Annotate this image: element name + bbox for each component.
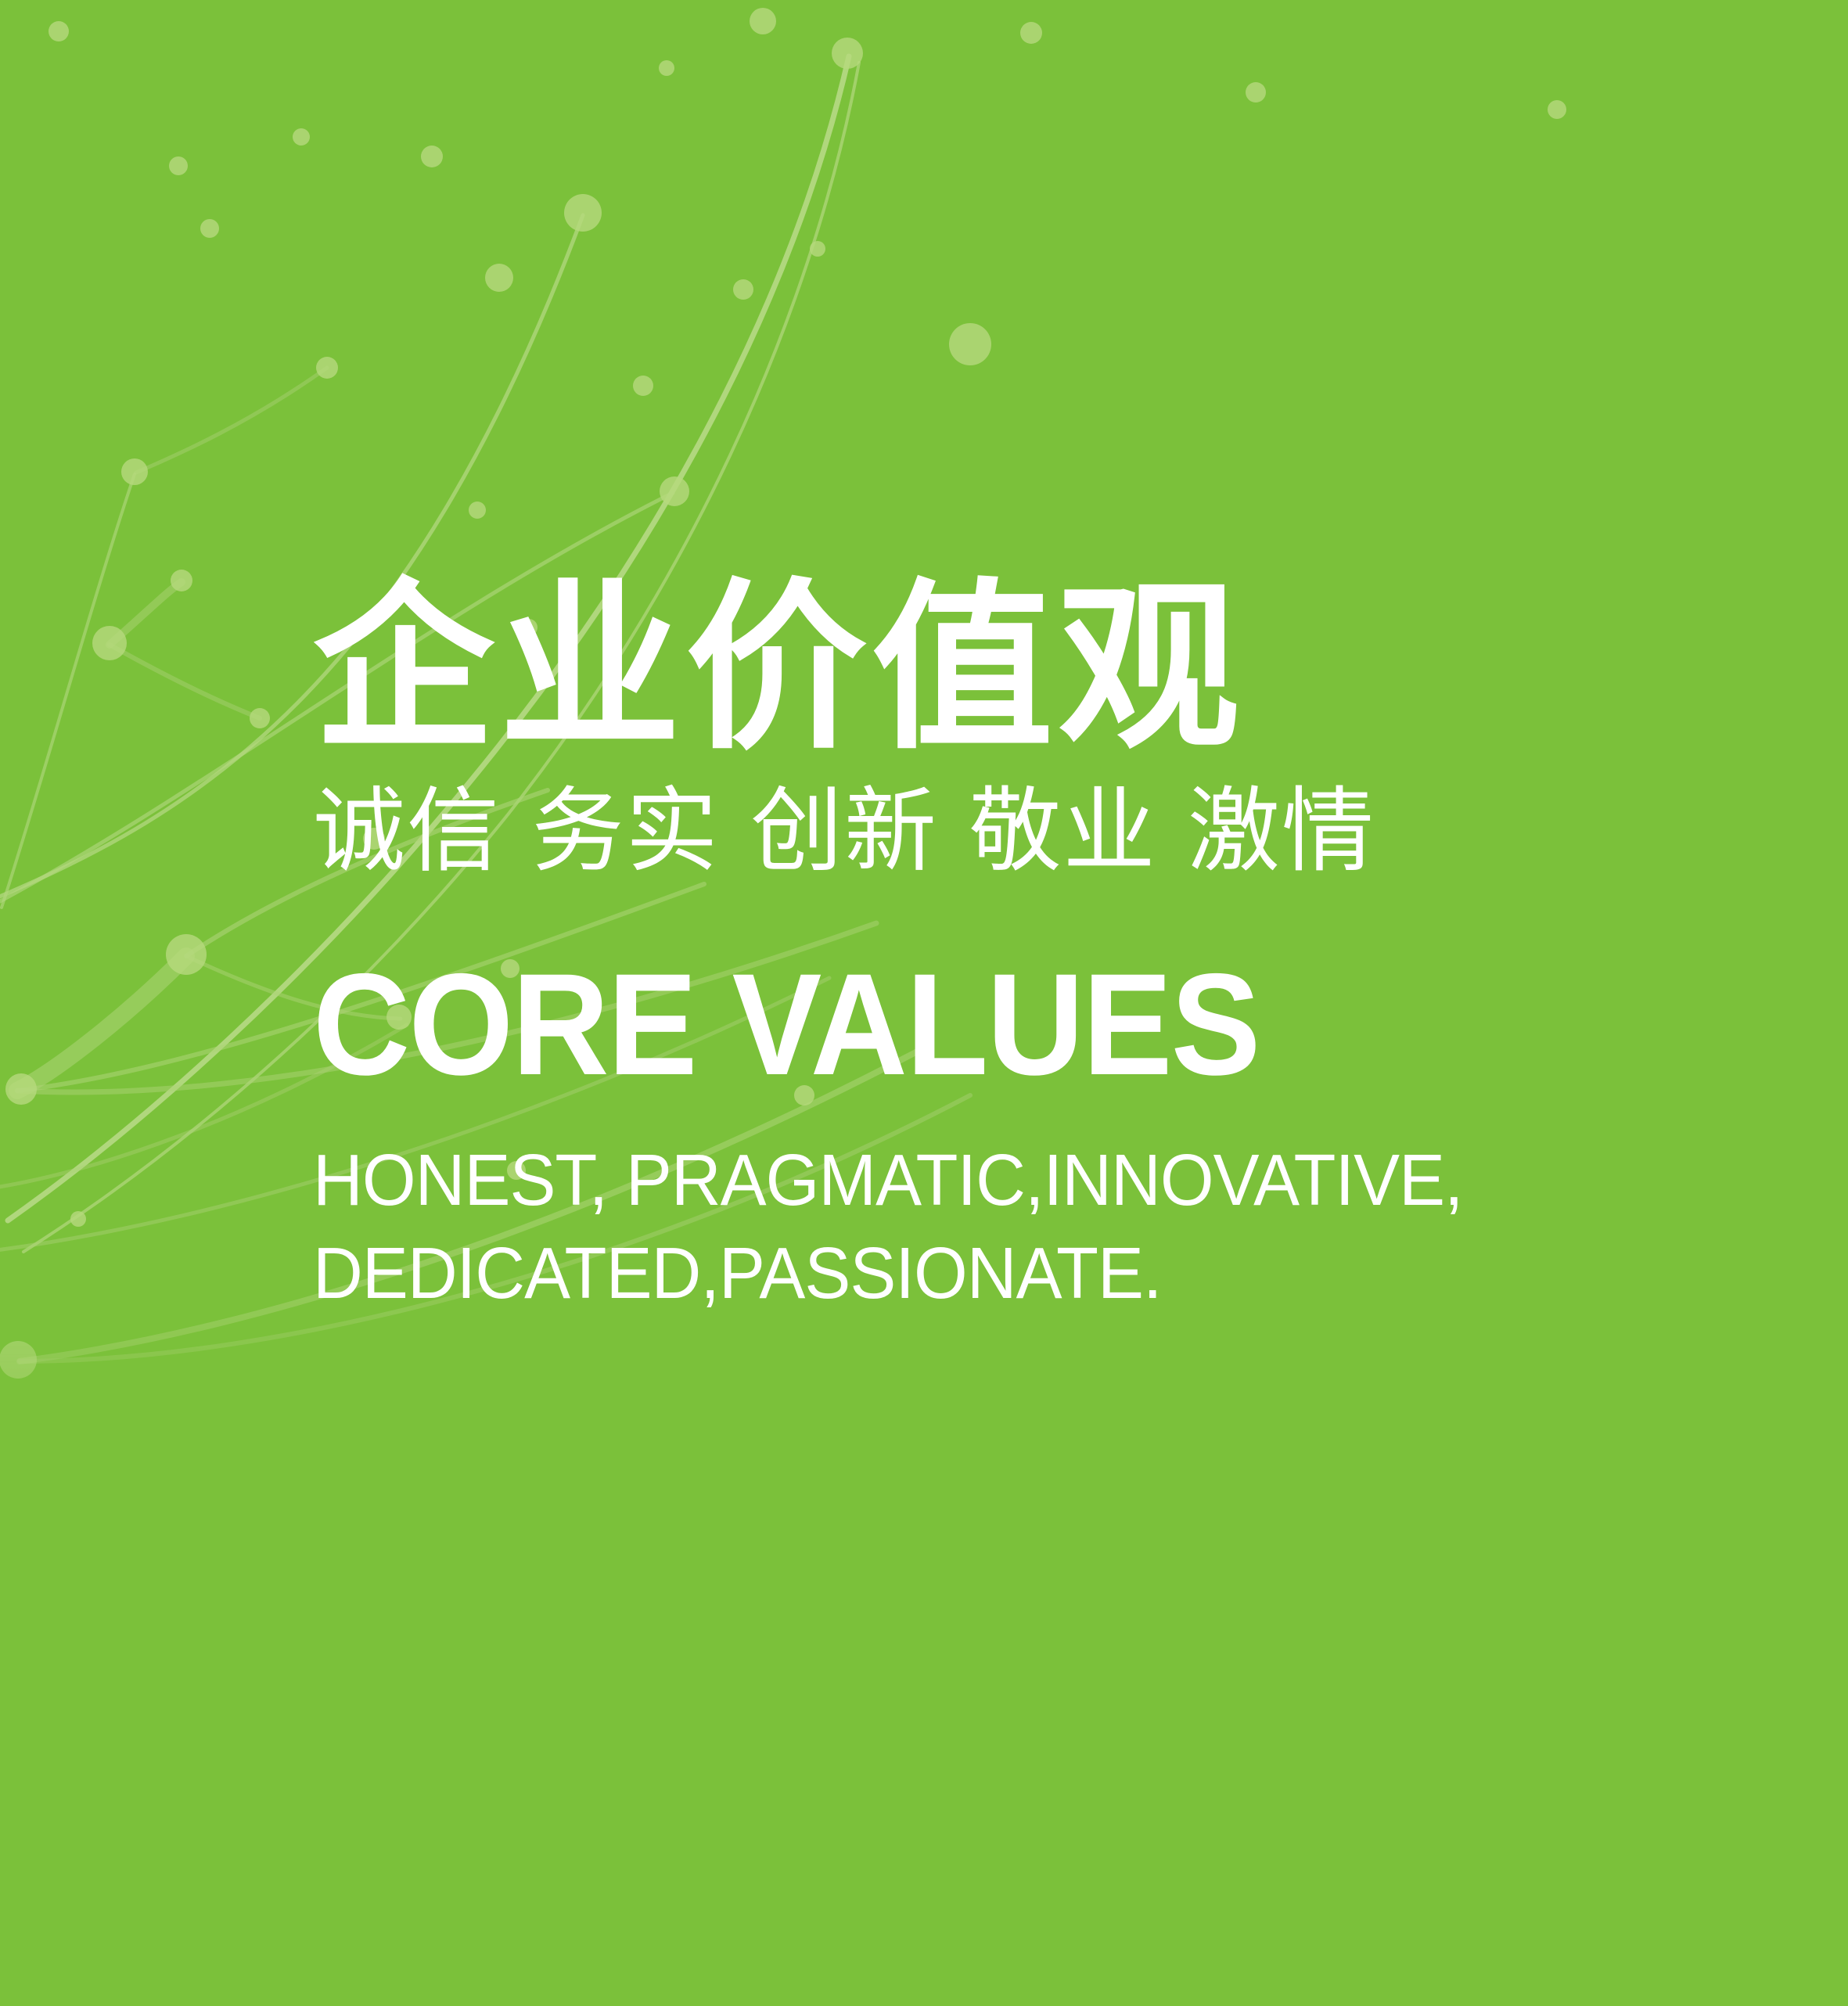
values-list-english: HONEST, PRAGMATIC,INNOVATIVE, DEDICATED,…	[313, 1134, 1651, 1320]
network-node-dot	[750, 8, 776, 34]
network-node-dot	[0, 1341, 37, 1379]
network-node-dot	[1548, 100, 1566, 119]
network-node-dot	[810, 241, 825, 257]
values-list-english-line-1: HONEST, PRAGMATIC,INNOVATIVE,	[313, 1134, 1651, 1227]
network-node-dot	[121, 458, 148, 485]
network-node-dot	[1020, 22, 1042, 44]
network-node-dot	[250, 708, 270, 728]
line-left-to-node	[2, 474, 135, 908]
page-title-english: CORE VALUES	[313, 953, 1623, 1098]
network-node-dot	[633, 376, 653, 396]
thick-link-a	[17, 956, 186, 1091]
network-node-dot	[421, 146, 443, 167]
network-node-dot	[171, 570, 192, 591]
network-node-dot	[1246, 82, 1266, 102]
network-node-dot	[293, 128, 310, 146]
network-node-dot	[733, 279, 753, 300]
network-node-dot	[564, 194, 602, 232]
thin-link-l	[136, 368, 327, 473]
network-node-dot	[316, 357, 338, 379]
network-node-dot	[469, 501, 486, 519]
network-node-dot	[92, 626, 127, 660]
core-values-poster: 企业价值观 诚信 务实 创新 敬业 激情 CORE VALUES HONEST,…	[0, 0, 1848, 2006]
network-node-dot	[832, 38, 863, 69]
values-list-chinese: 诚信 务实 创新 敬业 激情	[313, 779, 1721, 883]
thin-link-k	[110, 645, 260, 718]
network-node-dot	[485, 264, 513, 292]
values-list-english-line-2: DEDICATED,PASSIONATE.	[313, 1227, 1651, 1320]
network-node-dot	[70, 1211, 86, 1227]
network-node-dot	[660, 476, 689, 506]
network-node-dot	[5, 1073, 37, 1105]
text-block: 企业价值观 诚信 务实 创新 敬业 激情 CORE VALUES HONEST,…	[313, 575, 1721, 1320]
network-node-dot	[166, 934, 207, 975]
thin-link-j	[110, 582, 182, 645]
network-node-dot	[659, 60, 674, 76]
page-title-chinese: 企业价值观	[313, 575, 1721, 762]
network-node-dot	[200, 219, 219, 238]
network-node-dot	[169, 156, 188, 175]
network-node-dot	[49, 21, 69, 41]
network-node-dot	[949, 323, 991, 365]
